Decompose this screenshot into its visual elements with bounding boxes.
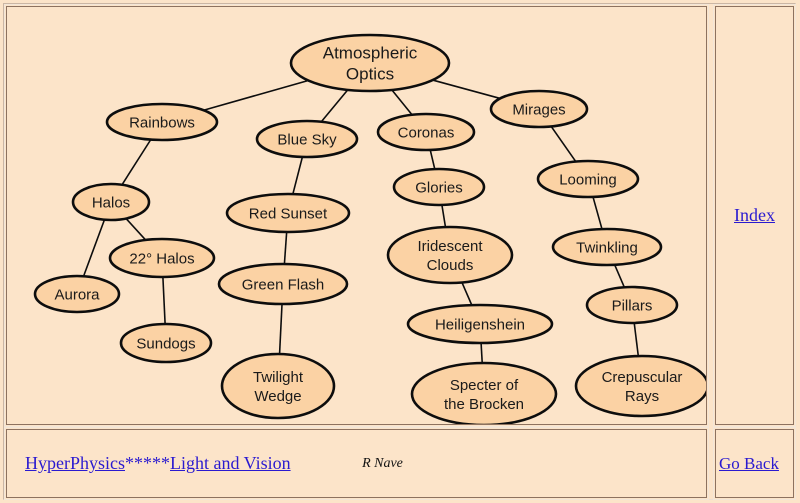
edge-rainbows-to-halos	[122, 140, 151, 185]
node-label-iridescent-clouds: Clouds	[427, 257, 474, 274]
node-label-coronas: Coronas	[398, 124, 455, 141]
edge-pillars-to-crepuscular-rays	[634, 323, 638, 356]
edge-halos-to-aurora	[84, 220, 105, 276]
node-label-twilight-wedge: Wedge	[254, 388, 301, 405]
node-mirages[interactable]: Mirages	[491, 91, 587, 127]
node-rainbows[interactable]: Rainbows	[107, 104, 217, 140]
index-link[interactable]: Index	[734, 205, 775, 226]
edge-coronas-to-glories	[430, 150, 435, 169]
node-label-looming: Looming	[559, 171, 617, 188]
edge-twinkling-to-pillars	[615, 265, 625, 287]
node-label-iridescent-clouds: Iridescent	[417, 238, 483, 255]
edge-red-sunset-to-green-flash	[284, 232, 286, 264]
edge-green-flash-to-twilight-wedge	[280, 304, 282, 354]
node-specter-of-the-brocken[interactable]: Specter ofthe Brocken	[412, 363, 556, 424]
index-panel: Index	[715, 6, 794, 425]
node-shape-twilight-wedge	[222, 354, 334, 418]
node-label-mirages: Mirages	[512, 101, 565, 118]
edge-atmospheric-optics-to-blue-sky	[321, 90, 347, 122]
edge-glories-to-iridescent-clouds	[442, 205, 446, 227]
edge-atmospheric-optics-to-rainbows	[204, 80, 309, 110]
node-halos[interactable]: Halos	[73, 184, 149, 220]
node-shape-crepuscular-rays	[576, 356, 707, 416]
node-label-glories: Glories	[415, 179, 463, 196]
node-twinkling[interactable]: Twinkling	[553, 229, 661, 265]
edge-blue-sky-to-red-sunset	[293, 157, 303, 194]
node-label-blue-sky: Blue Sky	[277, 131, 337, 148]
edge-22-halos-to-sundogs	[163, 277, 165, 324]
node-sundogs[interactable]: Sundogs	[121, 324, 211, 362]
node-looming[interactable]: Looming	[538, 161, 638, 197]
node-label-aurora: Aurora	[54, 286, 100, 303]
node-label-halos: Halos	[92, 194, 130, 211]
node-label-heiligenshein: Heiligenshein	[435, 316, 525, 333]
go-back-panel: Go Back	[715, 429, 794, 498]
node-coronas[interactable]: Coronas	[378, 114, 474, 150]
node-label-specter-of-the-brocken: the Brocken	[444, 396, 524, 413]
node-iridescent-clouds[interactable]: IridescentClouds	[388, 227, 512, 283]
edge-atmospheric-optics-to-mirages	[433, 80, 500, 98]
node-label-sundogs: Sundogs	[136, 335, 195, 352]
edge-iridescent-clouds-to-heiligenshein	[462, 282, 472, 305]
edge-heiligenshein-to-specter-of-the-brocken	[481, 343, 482, 363]
node-atmospheric-optics[interactable]: AtmosphericOptics	[291, 35, 449, 91]
node-red-sunset[interactable]: Red Sunset	[227, 194, 349, 232]
node-label-atmospheric-optics: Atmospheric	[323, 43, 418, 62]
node-pillars[interactable]: Pillars	[587, 287, 677, 323]
node-label-rainbows: Rainbows	[129, 114, 195, 131]
node-shape-iridescent-clouds	[388, 227, 512, 283]
edge-mirages-to-looming	[551, 126, 576, 161]
node-label-green-flash: Green Flash	[242, 276, 325, 293]
author-credit: R Nave	[33, 456, 732, 472]
node-green-flash[interactable]: Green Flash	[219, 264, 347, 304]
edge-looming-to-twinkling	[593, 197, 602, 229]
node-label-red-sunset: Red Sunset	[249, 205, 328, 222]
node-aurora[interactable]: Aurora	[35, 276, 119, 312]
node-blue-sky[interactable]: Blue Sky	[257, 121, 357, 157]
node-crepuscular-rays[interactable]: CrepuscularRays	[576, 356, 707, 416]
content-row: AtmosphericOpticsRainbowsBlue SkyCoronas…	[6, 6, 794, 425]
node-twilight-wedge[interactable]: TwilightWedge	[222, 354, 334, 418]
page-layout: AtmosphericOpticsRainbowsBlue SkyCoronas…	[6, 6, 794, 498]
node-label-specter-of-the-brocken: Specter of	[450, 377, 519, 394]
node-label-22-halos: 22° Halos	[129, 250, 194, 267]
edge-atmospheric-optics-to-coronas	[392, 90, 412, 115]
footer-panel: HyperPhysics*****Light and Vision R Nave	[6, 429, 707, 498]
node-label-crepuscular-rays: Rays	[625, 388, 659, 405]
page-root: AtmosphericOpticsRainbowsBlue SkyCoronas…	[0, 0, 800, 503]
node-label-twilight-wedge: Twilight	[253, 369, 304, 386]
edge-halos-to-22-halos	[126, 219, 146, 240]
go-back-link[interactable]: Go Back	[719, 454, 779, 474]
node-label-atmospheric-optics: Optics	[346, 64, 394, 83]
node-label-crepuscular-rays: Crepuscular	[602, 369, 683, 386]
node-22-halos[interactable]: 22° Halos	[110, 239, 214, 277]
node-heiligenshein[interactable]: Heiligenshein	[408, 305, 552, 343]
node-glories[interactable]: Glories	[394, 169, 484, 205]
footer-row: HyperPhysics*****Light and Vision R Nave…	[6, 429, 794, 498]
node-label-pillars: Pillars	[612, 297, 653, 314]
concept-map-panel: AtmosphericOpticsRainbowsBlue SkyCoronas…	[6, 6, 707, 425]
node-label-twinkling: Twinkling	[576, 239, 638, 256]
atmospheric-optics-concept-map: AtmosphericOpticsRainbowsBlue SkyCoronas…	[7, 7, 707, 424]
